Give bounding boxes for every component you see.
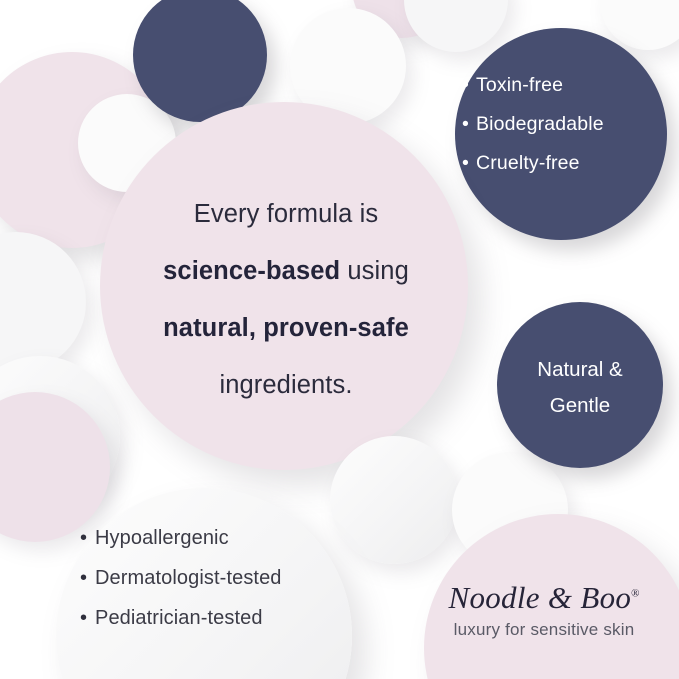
decorative-circle-white-midleft	[0, 232, 86, 372]
grey-bullet-list: •Hypoallergenic •Dermatologist-tested •P…	[80, 518, 380, 638]
grey-bullet-label-1: Hypoallergenic	[95, 527, 229, 549]
list-item: •Pediatrician-tested	[80, 598, 380, 638]
grey-bullet-label-2: Dermatologist-tested	[95, 567, 282, 589]
brand-name: Noodle & Boo®	[426, 580, 662, 616]
decorative-circle-white-topright	[404, 0, 508, 52]
list-item: •Hypoallergenic	[80, 518, 380, 558]
bullet-icon: •	[462, 66, 476, 105]
statement-line-1: Every formula is	[128, 186, 444, 243]
list-item: •Toxin-free	[462, 66, 662, 105]
statement-emphasis-natural: natural, proven-safe	[128, 300, 444, 357]
navy-bullet-list: •Toxin-free •Biodegradable •Cruelty-free	[462, 66, 662, 183]
brand-name-text: Noodle & Boo	[448, 580, 631, 615]
badge-text: Natural & Gentle	[497, 352, 663, 424]
statement-emphasis-science: science-based	[163, 257, 340, 285]
main-statement-text: Every formula is science-based using nat…	[128, 186, 444, 414]
badge-line-2: Gentle	[497, 388, 663, 424]
registered-trademark-icon: ®	[631, 588, 639, 600]
statement-line-2-rest: using	[340, 257, 409, 285]
navy-bullet-label-1: Toxin-free	[476, 74, 563, 96]
list-item: •Dermatologist-tested	[80, 558, 380, 598]
bullet-icon: •	[80, 598, 95, 638]
grey-bullet-label-3: Pediatrician-tested	[95, 607, 263, 629]
list-item: •Biodegradable	[462, 105, 662, 144]
bullet-icon: •	[462, 144, 476, 183]
marketing-graphic: Every formula is science-based using nat…	[0, 0, 679, 679]
statement-line-4: ingredients.	[128, 357, 444, 414]
badge-line-1: Natural &	[497, 352, 663, 388]
bullet-icon: •	[80, 558, 95, 598]
bullet-icon: •	[80, 518, 95, 558]
navy-bullet-label-3: Cruelty-free	[476, 152, 580, 174]
bullet-icon: •	[462, 105, 476, 144]
statement-line-2: science-based using	[128, 243, 444, 300]
list-item: •Cruelty-free	[462, 144, 662, 183]
brand-tagline: luxury for sensitive skin	[426, 620, 662, 640]
decorative-circle-navy-top	[133, 0, 267, 122]
brand-logo: Noodle & Boo® luxury for sensitive skin	[426, 580, 662, 640]
navy-bullet-label-2: Biodegradable	[476, 113, 604, 135]
